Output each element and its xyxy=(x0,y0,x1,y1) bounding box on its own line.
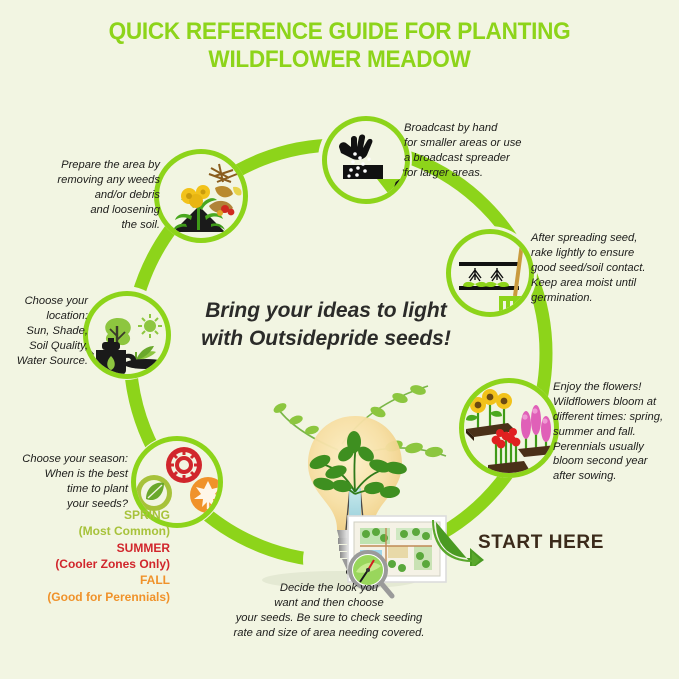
season-summer-name: SUMMER xyxy=(10,540,170,556)
step-text-prepare-area: Prepare the area by removing any weeds a… xyxy=(42,158,160,232)
season-fall-note: (Good for Perennials) xyxy=(10,589,170,605)
tagline: Bring your ideas to light with Outsidepr… xyxy=(180,297,472,352)
step-text-enjoy-flowers: Enjoy the flowers! Wildflowers bloom at … xyxy=(553,380,679,484)
season-spring-note: (Most Common) xyxy=(10,523,170,539)
node-broadcast-seed[interactable] xyxy=(322,116,410,204)
step-text-rake-lightly: After spreading seed, rake lightly to en… xyxy=(531,231,679,305)
tree-sun-wateringcan-sprout-icon xyxy=(88,296,171,379)
infographic-canvas: QUICK REFERENCE GUIDE FOR PLANTING WILDF… xyxy=(0,0,679,679)
step-text-choose-location: Choose your location: Sun, Shade, Soil Q… xyxy=(0,294,88,368)
node-enjoy-flowers[interactable] xyxy=(459,378,559,478)
season-legend: SPRING (Most Common) SUMMER (Cooler Zone… xyxy=(10,507,170,605)
flower-beds-icon xyxy=(464,383,559,478)
start-here-label: START HERE xyxy=(478,532,604,554)
node-prepare-area[interactable] xyxy=(154,149,248,243)
season-spring-name: SPRING xyxy=(10,507,170,523)
node-choose-location[interactable] xyxy=(83,291,171,379)
hand-broadcast-spreader-icon xyxy=(327,121,410,204)
season-summer-note: (Cooler Zones Only) xyxy=(10,556,170,572)
step-text-choose-season: Choose your season: When is the best tim… xyxy=(10,452,128,512)
step-text-decide-look: Decide the look you want and then choose… xyxy=(190,581,468,641)
step-text-broadcast-seed: Broadcast by hand for smaller areas or u… xyxy=(404,121,564,181)
weeds-debris-icon xyxy=(159,154,248,243)
season-fall-name: FALL xyxy=(10,572,170,588)
